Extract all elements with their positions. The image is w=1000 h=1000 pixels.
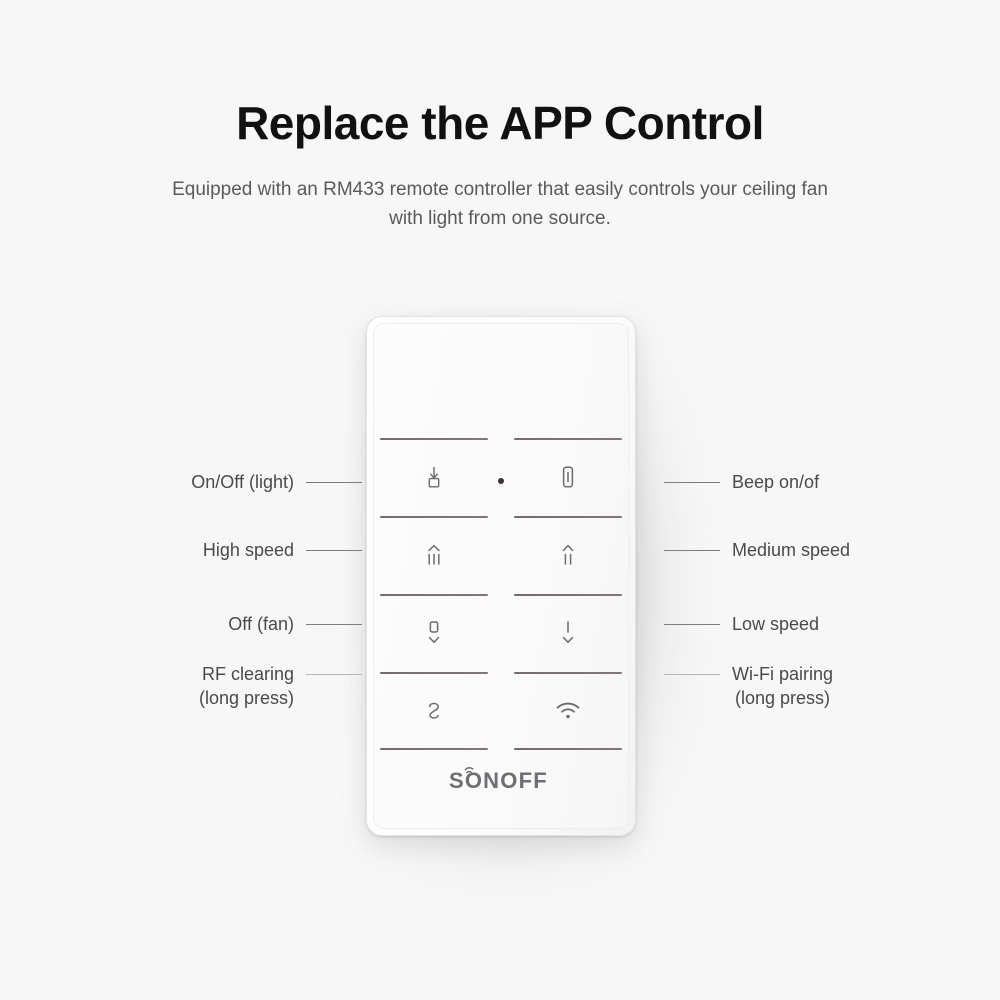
leader-line: [664, 674, 720, 675]
callout-high-speed: High speed: [203, 538, 362, 562]
button-grid: [374, 438, 628, 750]
button-fan-off[interactable]: [380, 594, 488, 672]
chevron-up-three-bars-icon: [380, 516, 488, 594]
callout-label: On/Off (light): [191, 470, 294, 494]
one-bar-chevron-down-icon: [514, 594, 622, 672]
power-capsule-icon: [514, 438, 622, 516]
button-beep-onoff[interactable]: [514, 438, 622, 516]
button-column-right: [514, 438, 622, 750]
leader-line: [664, 624, 720, 625]
callout-label: High speed: [203, 538, 294, 562]
callout-label: Off (fan): [228, 612, 294, 636]
zero-chevron-down-icon: [380, 594, 488, 672]
callout-beep-onoff: Beep on/of: [664, 470, 819, 494]
callout-rf-clearing: RF clearing (long press): [199, 662, 362, 711]
rf-two-glyph-icon: [380, 672, 488, 750]
callout-label: Low speed: [732, 612, 819, 636]
callout-sublabel: (long press): [732, 686, 833, 710]
callout-label: RF clearing: [199, 662, 294, 686]
rm433-remote-controller: SONOFF: [366, 316, 636, 836]
callout-light-onoff: On/Off (light): [191, 470, 362, 494]
light-switch-icon: [380, 438, 488, 516]
callout-label: Wi-Fi pairing: [732, 662, 833, 686]
leader-line: [664, 550, 720, 551]
button-medium-speed[interactable]: [514, 516, 622, 594]
callout-label: Medium speed: [732, 538, 850, 562]
callout-label: Beep on/of: [732, 470, 819, 494]
leader-line: [306, 482, 362, 483]
button-wifi-pairing[interactable]: [514, 672, 622, 750]
leader-line: [306, 550, 362, 551]
brand-text: SONOFF: [449, 768, 548, 792]
leader-line: [664, 482, 720, 483]
button-high-speed[interactable]: [380, 516, 488, 594]
button-light-onoff[interactable]: [380, 438, 488, 516]
callout-medium-speed: Medium speed: [664, 538, 850, 562]
button-low-speed[interactable]: [514, 594, 622, 672]
sonoff-wordmark: SONOFF: [447, 762, 555, 792]
brand-logo: SONOFF: [374, 762, 628, 792]
callout-sublabel: (long press): [199, 686, 294, 710]
wifi-icon: [514, 672, 622, 750]
leader-line: [306, 674, 362, 675]
button-rf-clearing[interactable]: [380, 672, 488, 750]
chevron-up-two-bars-icon: [514, 516, 622, 594]
button-column-left: [380, 438, 488, 750]
leader-line: [306, 624, 362, 625]
callout-low-speed: Low speed: [664, 612, 819, 636]
callout-wifi-pairing: Wi-Fi pairing (long press): [664, 662, 833, 711]
callout-fan-off: Off (fan): [228, 612, 362, 636]
device-stage: SONOFF On/Off (light) High speed Off (fa…: [0, 0, 1000, 1000]
device-faceplate: SONOFF: [373, 323, 629, 829]
